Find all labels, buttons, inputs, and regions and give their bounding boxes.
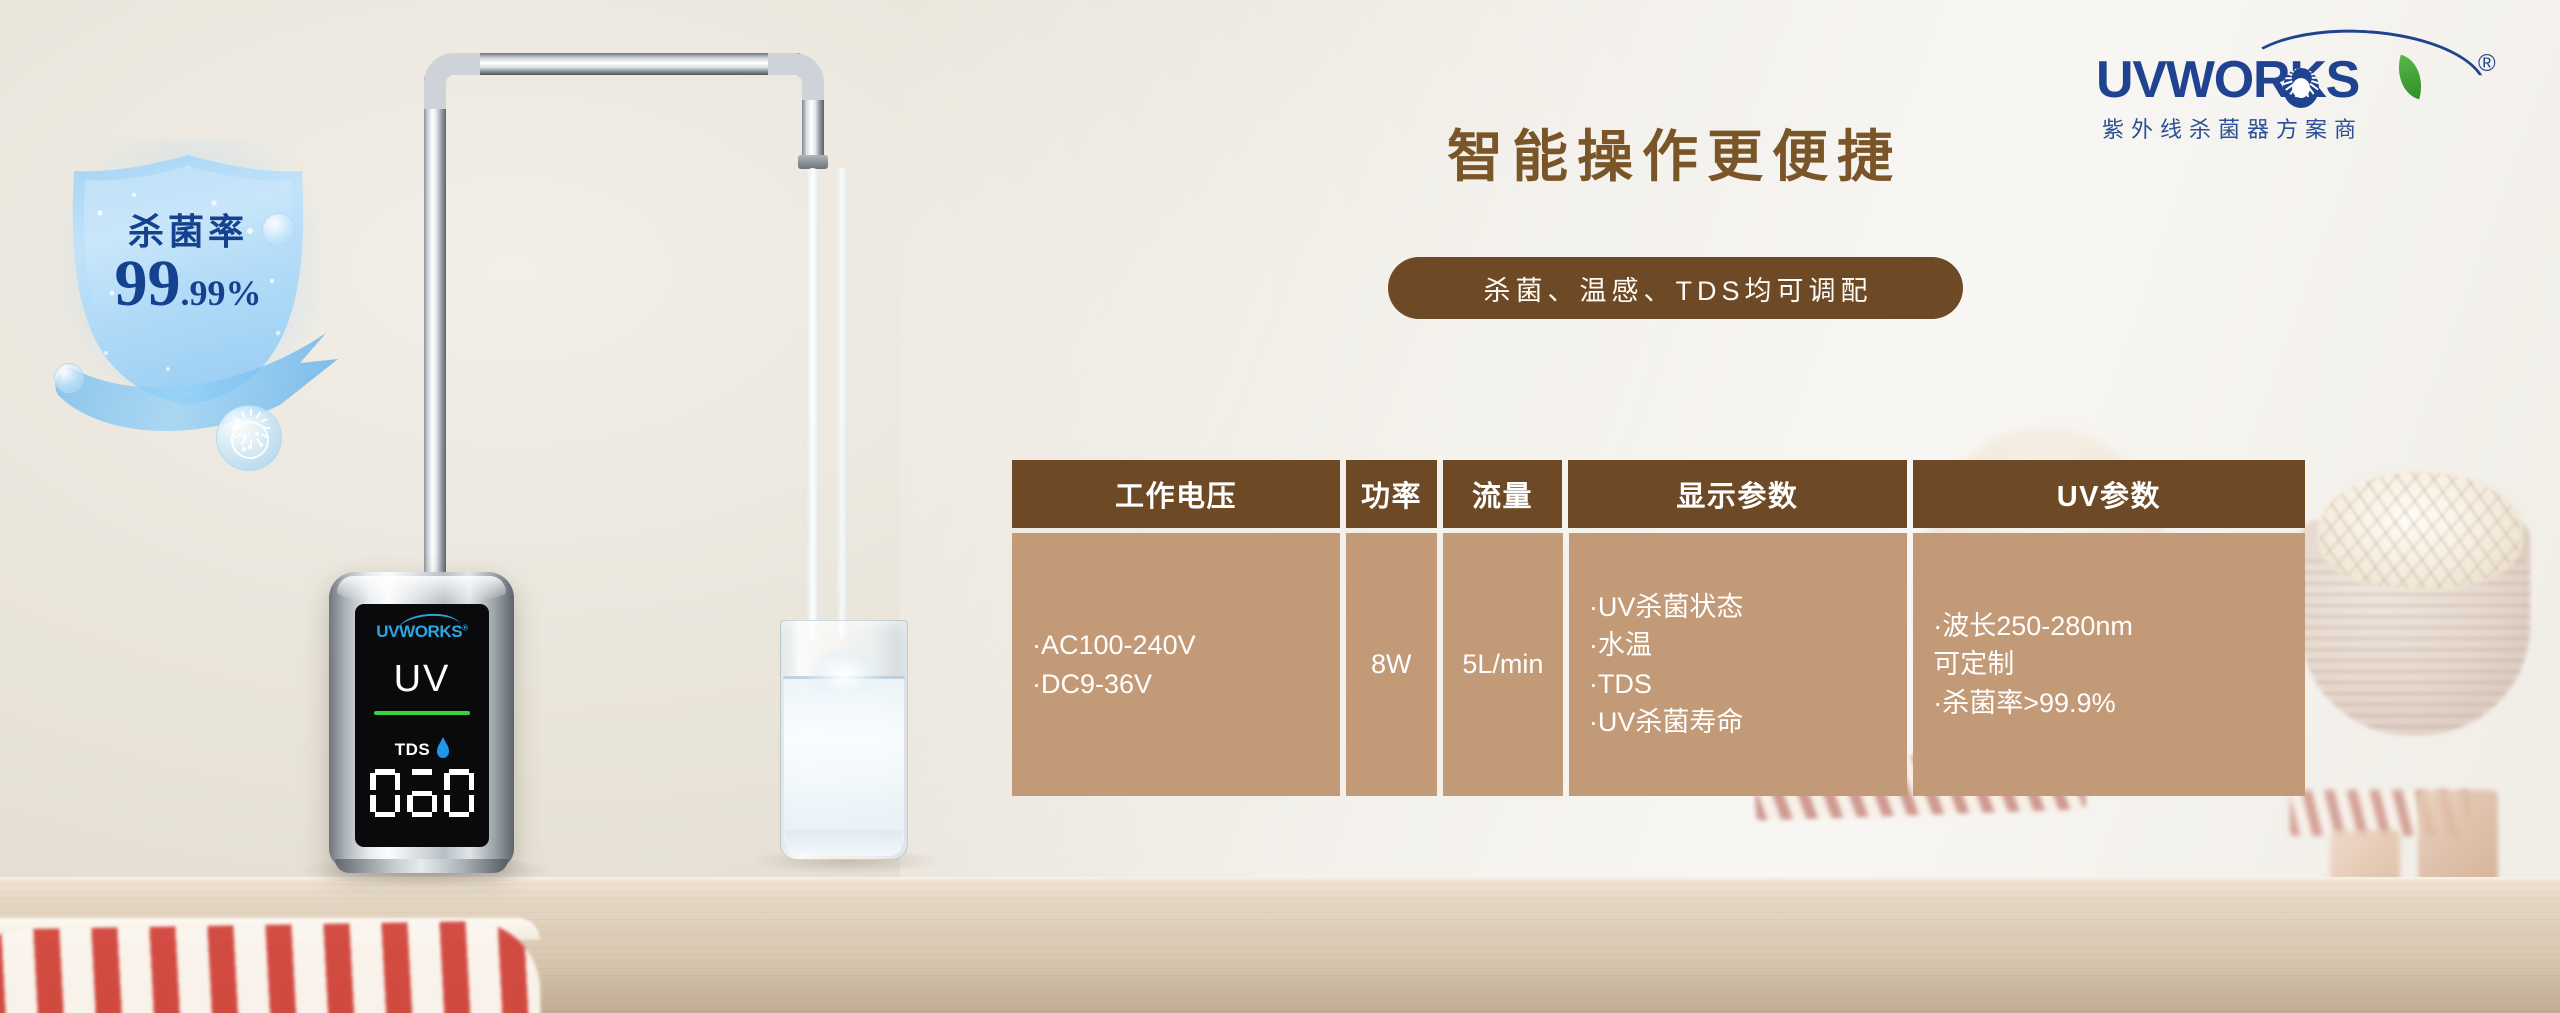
spec-value-line: ·UV杀菌寿命 bbox=[1589, 703, 1744, 741]
spec-table: 工作电压 功率 流量 显示参数 UV参数 ·AC100-240V ·DC9-36… bbox=[1012, 460, 2305, 796]
spec-table-body-row: ·AC100-240V ·DC9-36V 8W 5L/min ·UV杀菌状态 ·… bbox=[1012, 533, 2305, 796]
shield-value-minor: .99% bbox=[181, 273, 262, 313]
germ-icon bbox=[231, 421, 269, 459]
device-tds-row: TDS bbox=[395, 740, 450, 760]
page-title: 智能操作更便捷 bbox=[1360, 130, 1980, 186]
spec-value-cell: 5L/min bbox=[1443, 533, 1563, 796]
faucet-top-bar bbox=[455, 53, 800, 75]
spec-header-cell: 功率 bbox=[1346, 460, 1437, 528]
water-splash bbox=[808, 648, 880, 690]
bubble-icon bbox=[54, 363, 84, 393]
seven-segment-digit bbox=[407, 769, 437, 817]
device-screen-logo: UVWORKS® bbox=[376, 623, 467, 640]
device-screen[interactable]: UVWORKS® UV TDS bbox=[355, 604, 489, 847]
seven-segment-digit bbox=[444, 769, 474, 817]
registered-mark: ® bbox=[2478, 50, 2496, 78]
spec-value-cell: 8W bbox=[1346, 533, 1437, 796]
uv-sterilizer-device: UVWORKS® UV TDS bbox=[329, 572, 514, 869]
water-drop-icon bbox=[437, 742, 449, 758]
spec-value-line: 可定制 bbox=[1933, 645, 2014, 683]
seven-segment-digit bbox=[370, 769, 400, 817]
spec-value-cell: ·波长250-280nm 可定制 ·杀菌率>99.9% bbox=[1913, 533, 2305, 796]
spec-value-line: ·水温 bbox=[1589, 626, 1652, 664]
spec-header-cell: 显示参数 bbox=[1568, 460, 1907, 528]
device-status-bar bbox=[374, 711, 470, 715]
wooden-block-right bbox=[2418, 790, 2498, 885]
device-base bbox=[335, 859, 508, 873]
brand-logo: UVWORKS ® 紫外线杀菌器方案商 bbox=[2090, 28, 2510, 143]
subtitle-pill-label: 杀菌、温感、TDS均可调配 bbox=[1479, 269, 1873, 308]
device-tds-label: TDS bbox=[395, 740, 431, 760]
spec-value-cell: ·UV杀菌状态 ·水温 ·TDS ·UV杀菌寿命 bbox=[1569, 533, 1907, 796]
spec-value-line: ·波长250-280nm bbox=[1933, 607, 2133, 645]
water-glass bbox=[780, 620, 908, 860]
faucet-spout-column bbox=[802, 100, 824, 162]
device-screen-logo-mark: ® bbox=[462, 623, 468, 632]
spec-header-cell: 工作电压 bbox=[1012, 460, 1340, 528]
spec-value-line: ·DC9-36V bbox=[1032, 665, 1152, 703]
spec-value-line: ·AC100-240V bbox=[1032, 626, 1196, 664]
spec-table-header-row: 工作电压 功率 流量 显示参数 UV参数 bbox=[1012, 460, 2305, 528]
shield-value: 99.99% bbox=[68, 251, 308, 317]
brand-tagline: 紫外线杀菌器方案商 bbox=[2102, 112, 2502, 144]
device-mode-label: UV bbox=[394, 660, 451, 698]
spec-header-cell: 流量 bbox=[1443, 460, 1562, 528]
subtitle-pill: 杀菌、温感、TDS均可调配 bbox=[1388, 257, 1963, 319]
spec-value-cell: ·AC100-240V ·DC9-36V bbox=[1012, 533, 1340, 796]
water-stream-secondary bbox=[836, 168, 848, 638]
water-stream bbox=[806, 168, 819, 640]
faucet-outlet bbox=[798, 155, 828, 169]
spec-value-line: 5L/min bbox=[1462, 645, 1543, 683]
device-tds-value bbox=[370, 769, 474, 817]
bubble-icon bbox=[262, 213, 296, 247]
faucet-left-column bbox=[424, 75, 446, 575]
spec-value-line: ·TDS bbox=[1589, 665, 1652, 703]
glass-base bbox=[786, 830, 902, 856]
spec-value-line: ·UV杀菌状态 bbox=[1589, 588, 1744, 626]
faucet-corner-left bbox=[424, 53, 480, 109]
red-striped-cloth bbox=[0, 920, 541, 1013]
shield-text-group: 杀菌率 99.99% bbox=[68, 155, 308, 405]
sunburst-icon bbox=[2283, 68, 2319, 108]
device-top-highlight bbox=[337, 576, 506, 602]
shield-value-major: 99 bbox=[115, 247, 181, 320]
spec-value-line: ·杀菌率>99.9% bbox=[1933, 684, 2115, 722]
sterilization-rate-badge: 杀菌率 99.99% bbox=[38, 133, 348, 433]
spec-value-line: 8W bbox=[1371, 645, 1412, 683]
yarn-ball-texture bbox=[2320, 472, 2520, 588]
spec-header-cell: UV参数 bbox=[1913, 460, 2305, 528]
glass-water-fill bbox=[784, 678, 904, 853]
brand-name: UVWORKS bbox=[2096, 54, 2359, 106]
